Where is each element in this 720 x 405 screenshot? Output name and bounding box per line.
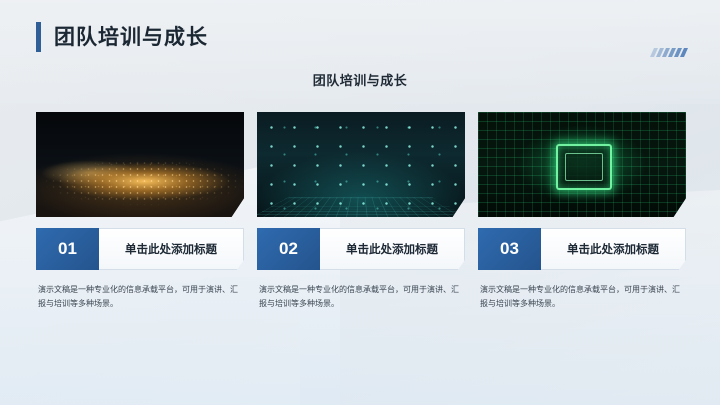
golden-particle-wave-image bbox=[36, 112, 244, 217]
card-number-badge: 03 bbox=[478, 228, 541, 270]
card-number-badge: 02 bbox=[257, 228, 320, 270]
card-title-row: 01 单击此处添加标题 bbox=[36, 228, 244, 270]
card-title-row: 03 单击此处添加标题 bbox=[478, 228, 686, 270]
slide-title-bar: 团队培训与成长 bbox=[36, 22, 208, 52]
card-number-badge: 01 bbox=[36, 228, 99, 270]
card-title-row: 02 单击此处添加标题 bbox=[257, 228, 465, 270]
card-title[interactable]: 单击此处添加标题 bbox=[99, 228, 244, 270]
content-columns: 01 单击此处添加标题 演示文稿是一种专业化的信息承载平台，可用于演讲、汇报与培… bbox=[36, 112, 686, 311]
page-title: 团队培训与成长 bbox=[54, 27, 208, 48]
slide: 团队培训与成长 团队培训与成长 01 单击此处添加标题 演示文稿是一种专业化的信… bbox=[0, 0, 720, 405]
card-body-text[interactable]: 演示文稿是一种专业化的信息承载平台，可用于演讲、汇报与培训等多种场景。 bbox=[36, 283, 244, 311]
content-column: 02 单击此处添加标题 演示文稿是一种专业化的信息承载平台，可用于演讲、汇报与培… bbox=[257, 112, 465, 311]
green-glowing-chip-image bbox=[478, 112, 686, 217]
card-title[interactable]: 单击此处添加标题 bbox=[541, 228, 686, 270]
card-title[interactable]: 单击此处添加标题 bbox=[320, 228, 465, 270]
stripes-decoration-icon bbox=[650, 48, 688, 57]
title-accent-bar bbox=[36, 22, 41, 52]
card-body-text[interactable]: 演示文稿是一种专业化的信息承载平台，可用于演讲、汇报与培训等多种场景。 bbox=[478, 283, 686, 311]
content-column: 03 单击此处添加标题 演示文稿是一种专业化的信息承载平台，可用于演讲、汇报与培… bbox=[478, 112, 686, 311]
section-heading: 团队培训与成长 bbox=[0, 70, 720, 89]
content-column: 01 单击此处添加标题 演示文稿是一种专业化的信息承载平台，可用于演讲、汇报与培… bbox=[36, 112, 244, 311]
teal-circuit-city-image bbox=[257, 112, 465, 217]
card-body-text[interactable]: 演示文稿是一种专业化的信息承载平台，可用于演讲、汇报与培训等多种场景。 bbox=[257, 283, 465, 311]
